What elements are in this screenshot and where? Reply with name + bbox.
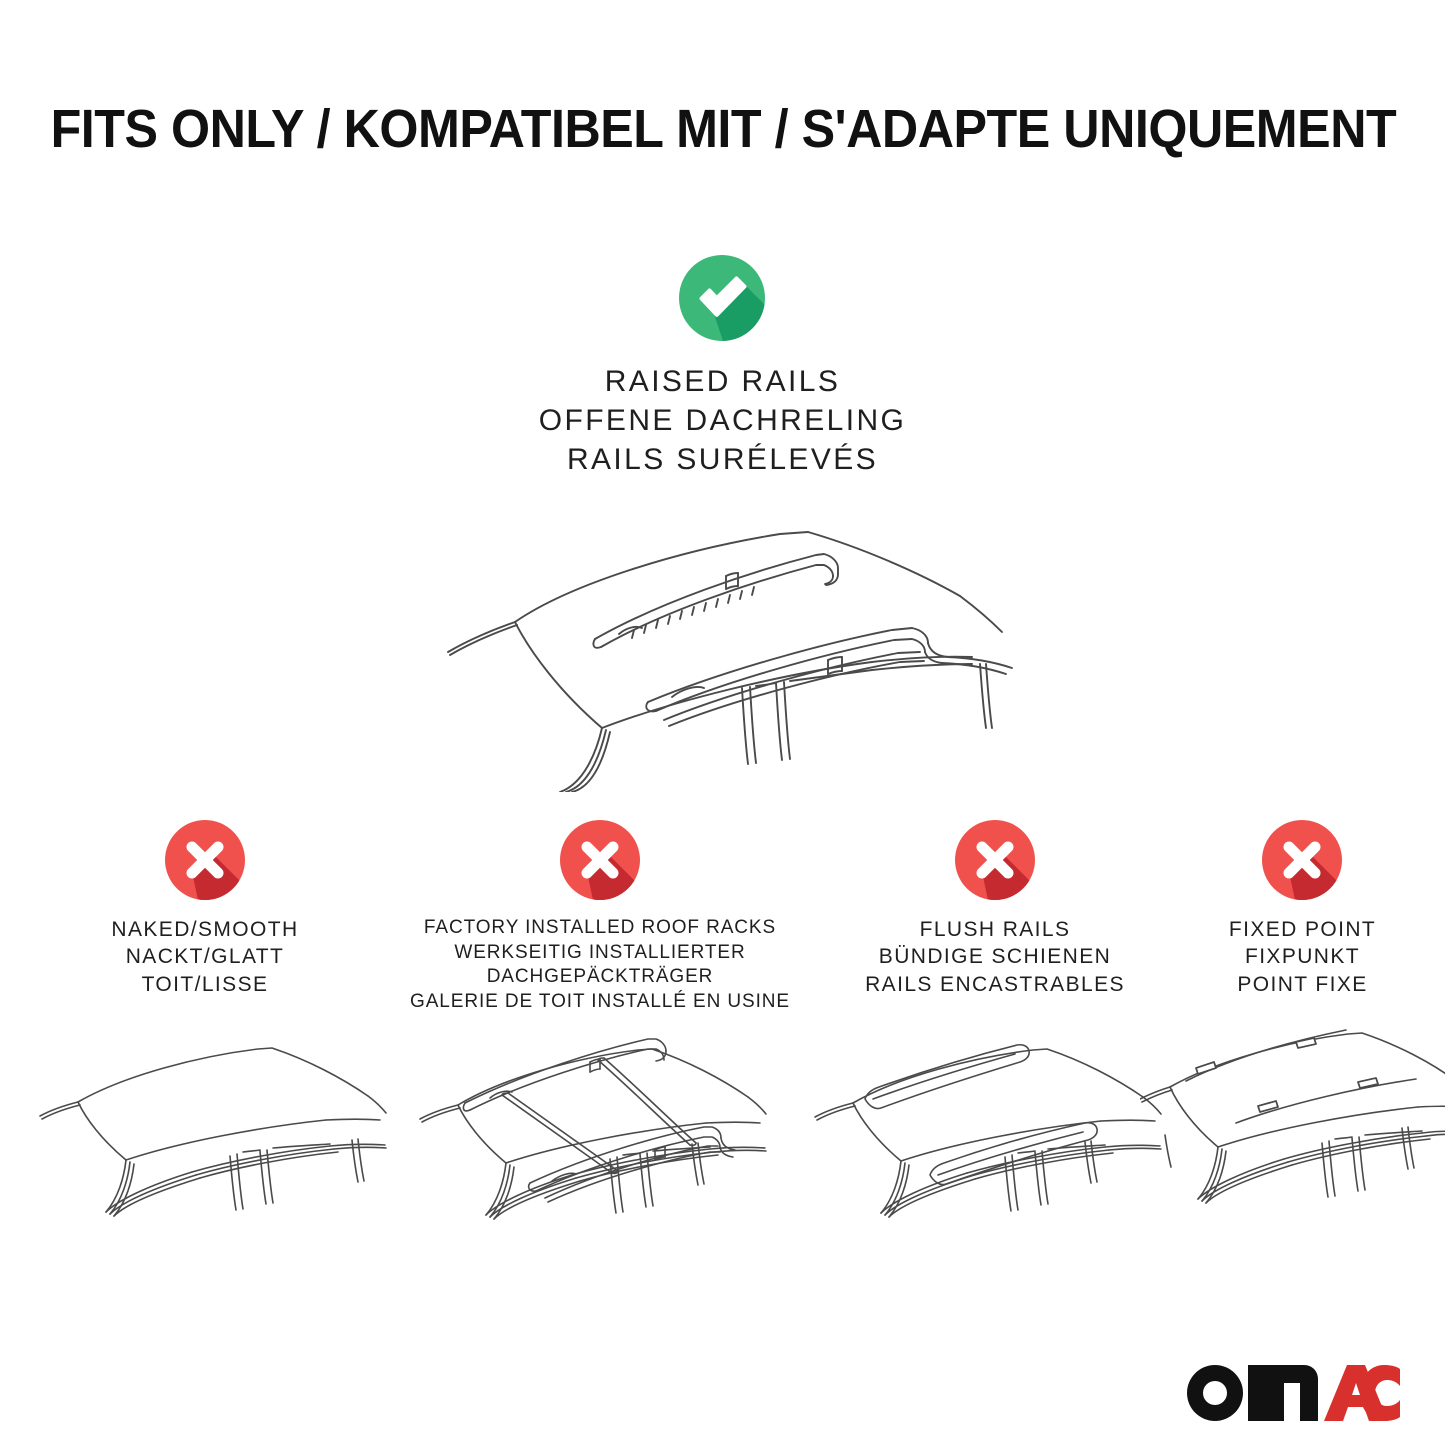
car-roof-factory-racks-illustration: [400, 1015, 780, 1260]
compatible-label-line-1: RAISED RAILS: [0, 362, 1445, 401]
label-line-3: RAILS ENCASTRABLES: [820, 971, 1170, 998]
label-line-3: DACHGEPÄCKTRÄGER: [400, 965, 800, 990]
label-line-3: POINT FIXE: [1160, 971, 1445, 998]
cross-circle-icon: [560, 820, 640, 900]
logo-letter-m: [1248, 1365, 1318, 1421]
omac-logo: [1184, 1360, 1400, 1422]
car-roof-fixed-point-illustration: [1140, 1015, 1445, 1260]
page-title: FITS ONLY / KOMPATIBEL MIT / S'ADAPTE UN…: [51, 98, 1395, 160]
label-line-4: GALERIE DE TOIT INSTALLÉ EN USINE: [400, 990, 800, 1015]
label-line-2: NACKT/GLATT: [30, 943, 380, 970]
incompatible-label-fixed-point: FIXED POINT FIXPUNKT POINT FIXE: [1160, 916, 1445, 998]
label-line-1: NAKED/SMOOTH: [30, 916, 380, 943]
car-roof-flush-rails-illustration: [785, 1015, 1175, 1260]
label-line-1: FACTORY INSTALLED ROOF RACKS: [400, 916, 800, 941]
compatible-label-line-2: OFFENE DACHRELING: [0, 401, 1445, 440]
infographic-root: FITS ONLY / KOMPATIBEL MIT / S'ADAPTE UN…: [0, 0, 1445, 1445]
compatible-label-line-3: RAILS SURÉLEVÉS: [0, 440, 1445, 479]
label-line-1: FLUSH RAILS: [820, 916, 1170, 943]
incompatible-label-naked-smooth: NAKED/SMOOTH NACKT/GLATT TOIT/LISSE: [30, 916, 380, 998]
label-line-2: BÜNDIGE SCHIENEN: [820, 943, 1170, 970]
label-line-3: TOIT/LISSE: [30, 971, 380, 998]
check-circle-icon: [679, 255, 765, 341]
compatible-label: RAISED RAILS OFFENE DACHRELING RAILS SUR…: [0, 362, 1445, 479]
cross-circle-icon: [955, 820, 1035, 900]
cross-circle-icon: [165, 820, 245, 900]
label-line-1: FIXED POINT: [1160, 916, 1445, 943]
label-line-2: FIXPUNKT: [1160, 943, 1445, 970]
incompatible-label-flush-rails: FLUSH RAILS BÜNDIGE SCHIENEN RAILS ENCAS…: [820, 916, 1170, 998]
logo-letter-o: [1187, 1365, 1243, 1421]
car-roof-naked-smooth-illustration: [20, 1020, 390, 1260]
incompatible-label-factory-roof-racks: FACTORY INSTALLED ROOF RACKS WERKSEITIG …: [400, 916, 800, 1015]
label-line-2: WERKSEITIG INSTALLIERTER: [400, 941, 800, 966]
car-roof-raised-rails-illustration: [420, 492, 1030, 792]
cross-circle-icon: [1262, 820, 1342, 900]
